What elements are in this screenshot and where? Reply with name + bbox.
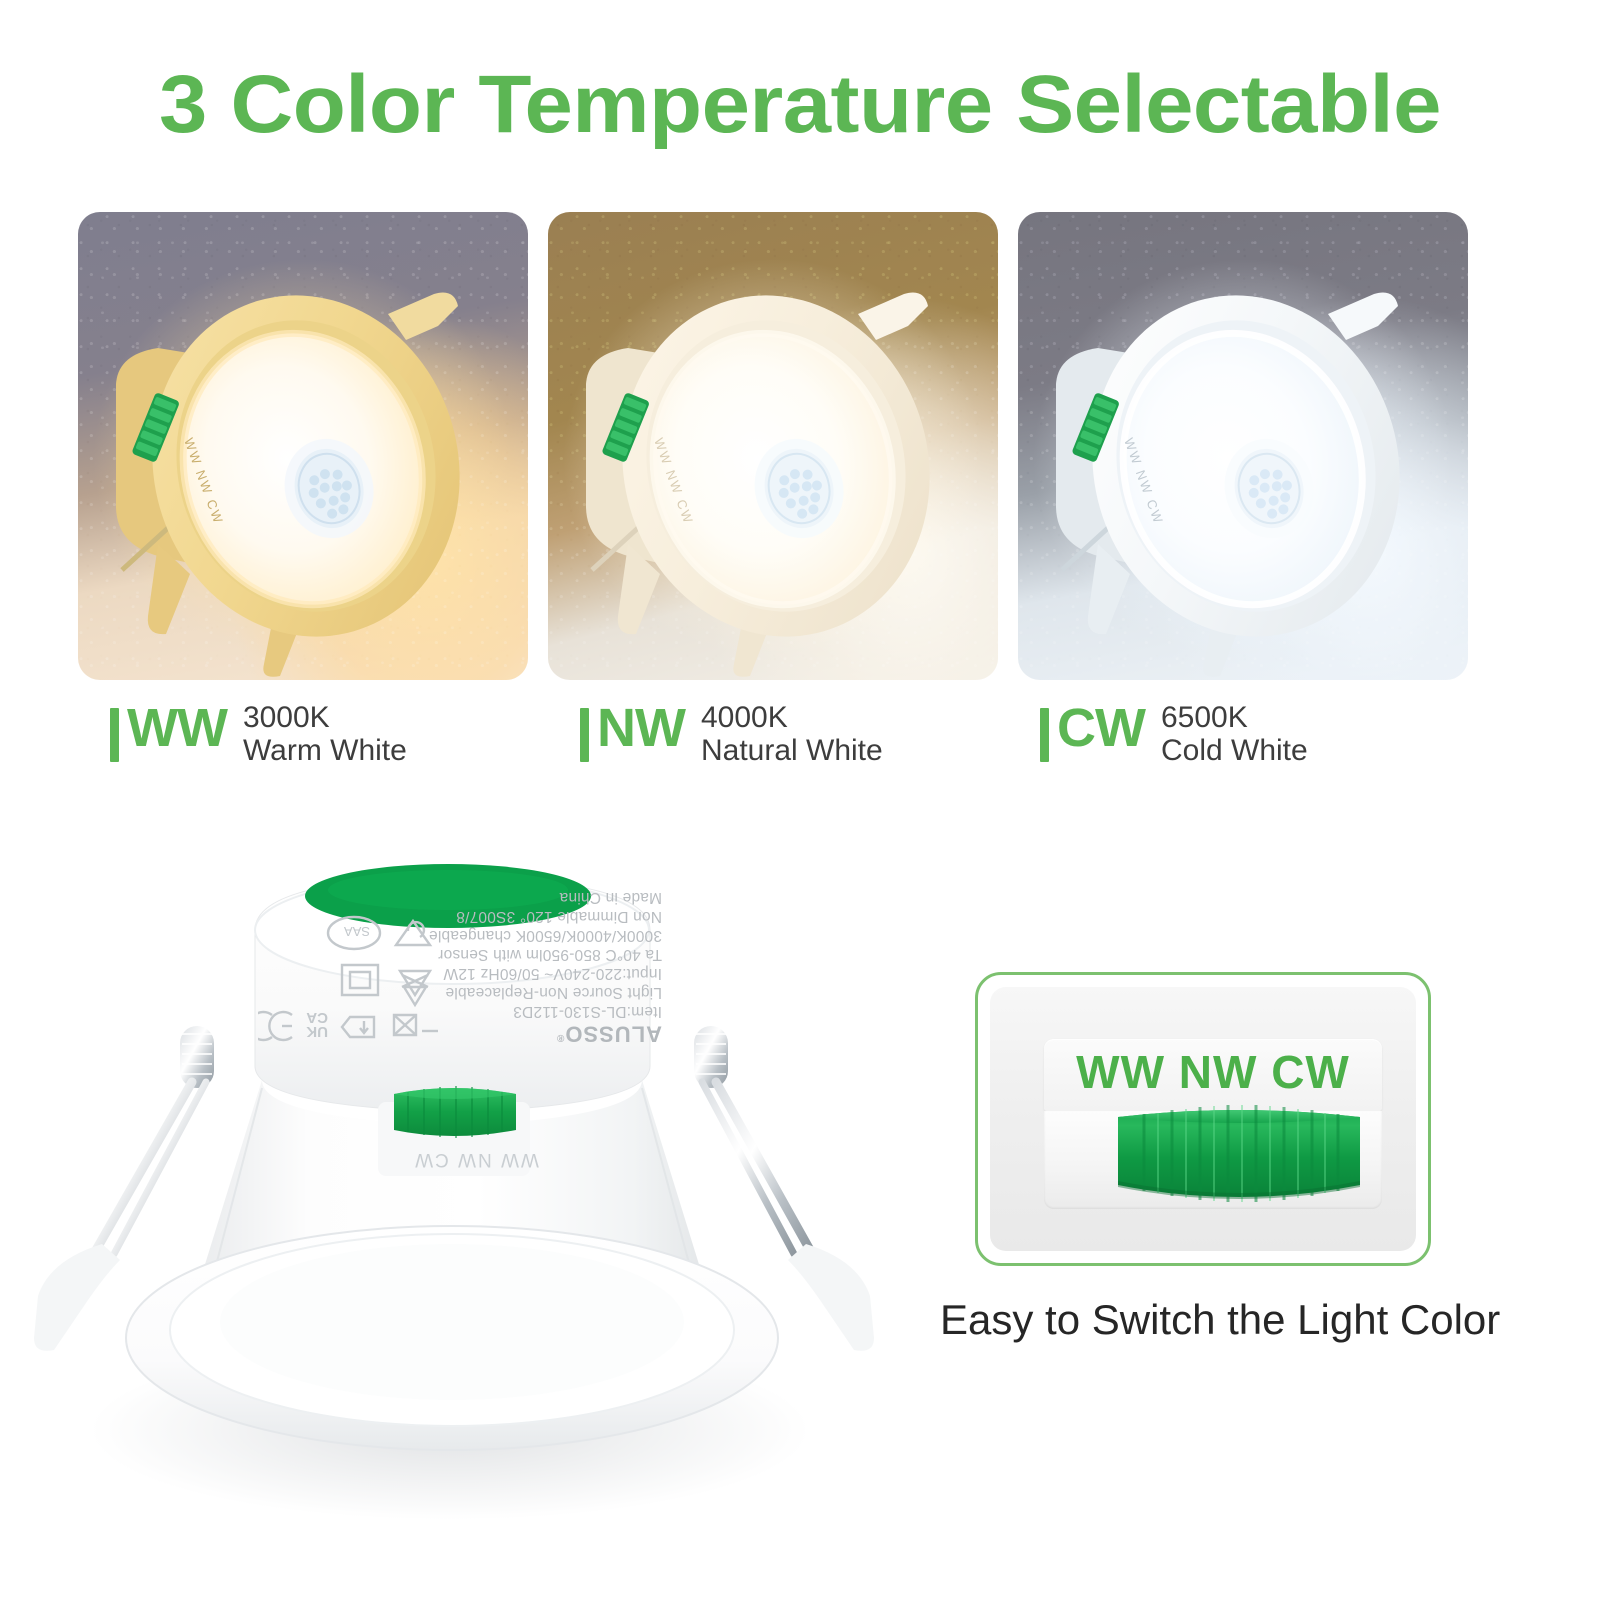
caption-nw: NW 4000K Natural White xyxy=(580,700,883,780)
switch-label-plate: WW NW CW xyxy=(1044,1039,1382,1111)
infographic-page: 3 Color Temperature Selectable xyxy=(0,0,1600,1600)
caption-name-ww: Warm White xyxy=(243,734,407,768)
caption-cw: CW 6500K Cold White xyxy=(1040,700,1308,780)
color-temperature-caption-row: WW 3000K Warm White NW 4000K Natural Whi… xyxy=(78,700,1528,780)
caption-name-cw: Cold White xyxy=(1161,734,1308,768)
caption-abbr-nw: NW xyxy=(597,700,685,756)
caption-text-cw: 6500K Cold White xyxy=(1161,702,1308,768)
color-temperature-tile-row: WW NW CW xyxy=(78,212,1528,682)
color-temperature-knob[interactable] xyxy=(1114,1103,1364,1209)
certification-marks: UK CA SAA xyxy=(258,905,478,1045)
tile-ww: WW NW CW xyxy=(78,212,528,680)
caption-text-ww: 3000K Warm White xyxy=(243,702,407,768)
downlight-illustration-nw: WW NW CW xyxy=(558,244,958,674)
callout-caption: Easy to Switch the Light Color xyxy=(940,1296,1500,1344)
caption-kelvin-ww: 3000K xyxy=(243,702,407,734)
accent-bar xyxy=(580,708,589,762)
downlight-illustration-cw: WW NW CW xyxy=(1028,244,1428,674)
caption-kelvin-cw: 6500K xyxy=(1161,702,1308,734)
svg-text:CA: CA xyxy=(306,1009,328,1026)
tile-cw: WW NW CW xyxy=(1018,212,1468,680)
switch-callout-box: WW NW CW xyxy=(975,972,1431,1266)
downlight-illustration-ww: WW NW CW xyxy=(88,244,488,674)
caption-abbr-cw: CW xyxy=(1057,700,1145,756)
caption-name-nw: Natural White xyxy=(701,734,883,768)
caption-text-nw: 4000K Natural White xyxy=(701,702,883,768)
caption-abbr-ww: WW xyxy=(127,700,227,756)
hero-switch-marks: WW NW CW xyxy=(386,1148,566,1170)
tile-nw: WW NW CW xyxy=(548,212,998,680)
svg-text:SAA: SAA xyxy=(344,924,370,939)
color-temperature-switch-hero xyxy=(394,1086,516,1138)
caption-kelvin-nw: 4000K xyxy=(701,702,883,734)
callout-inner-panel: WW NW CW xyxy=(990,987,1416,1251)
caption-ww: WW 3000K Warm White xyxy=(110,700,407,780)
accent-bar xyxy=(1040,708,1049,762)
switch-plate-label: WW NW CW xyxy=(1044,1045,1382,1099)
page-title: 3 Color Temperature Selectable xyxy=(0,58,1600,152)
accent-bar xyxy=(110,708,119,762)
